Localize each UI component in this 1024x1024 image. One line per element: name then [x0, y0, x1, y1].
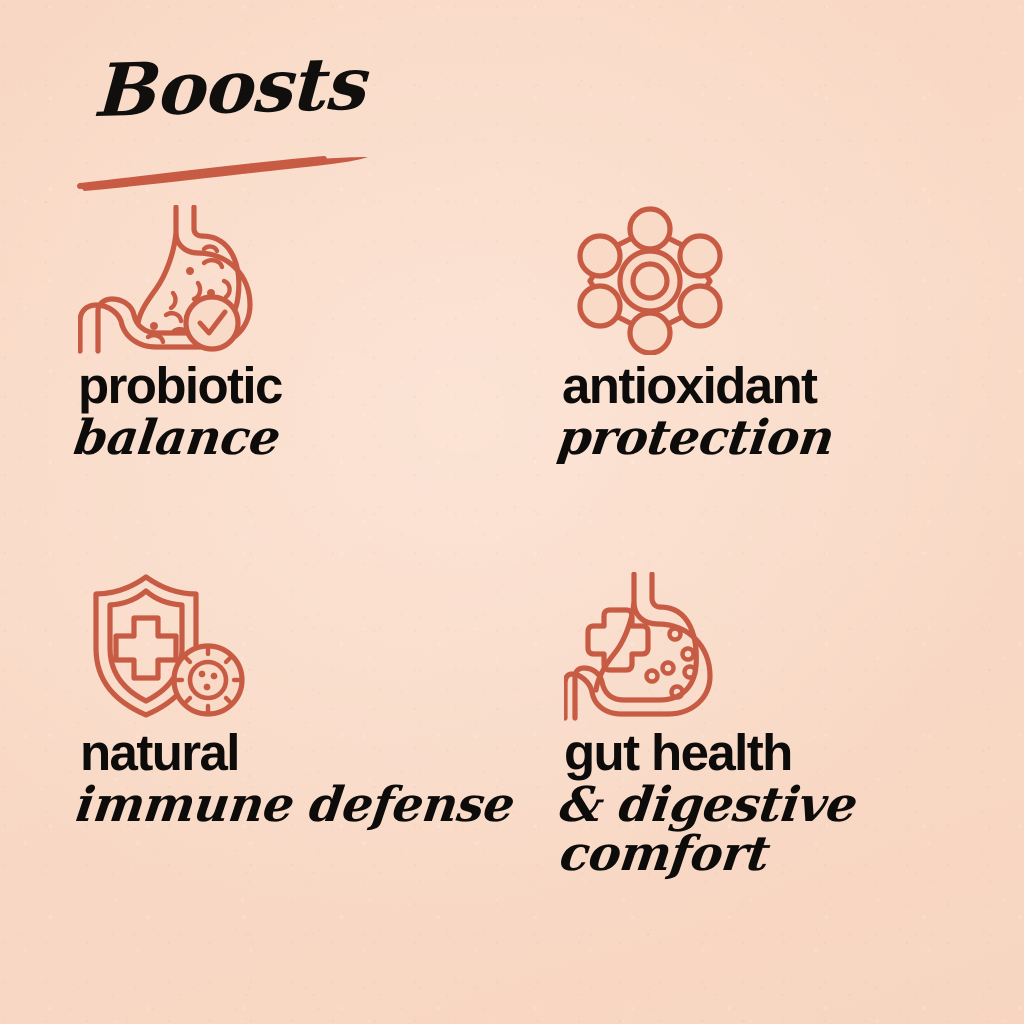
brush-underline-swash-icon: [74, 134, 374, 196]
benefit-title-line: gut health: [564, 728, 1004, 778]
benefit-card-gut-health: gut health & digestive comfort: [564, 572, 1004, 880]
benefit-title-line: probiotic: [78, 361, 518, 411]
stomach-cross-digestive-icon: [564, 572, 754, 722]
benefit-title-line: natural: [80, 728, 520, 778]
benefit-label-gut-health: gut health & digestive comfort: [564, 728, 1004, 880]
benefit-label-antioxidant: antioxidant protection: [562, 361, 1002, 464]
benefit-script-line-2: comfort: [557, 829, 1004, 880]
stomach-probiotic-check-icon: [78, 205, 268, 355]
benefit-title-line: antioxidant: [562, 361, 1002, 411]
page-title-block: Boosts: [74, 46, 494, 166]
antioxidant-molecule-icon: [562, 205, 752, 355]
benefit-label-immune: natural immune defense: [80, 728, 520, 831]
benefit-script-line: immune defense: [73, 780, 520, 831]
benefit-script-line: protection: [555, 413, 1002, 464]
benefit-label-probiotic: probiotic balance: [78, 361, 518, 464]
benefit-card-immune: natural immune defense: [80, 572, 520, 831]
benefit-script-line: balance: [71, 413, 518, 464]
benefit-script-line: & digestive: [557, 780, 1004, 831]
poster-canvas: Boosts: [0, 0, 1024, 1024]
shield-cross-germ-icon: [80, 572, 270, 722]
benefit-card-antioxidant: antioxidant protection: [562, 205, 1002, 464]
benefit-card-probiotic: probiotic balance: [78, 205, 518, 464]
page-title: Boosts: [96, 41, 372, 134]
